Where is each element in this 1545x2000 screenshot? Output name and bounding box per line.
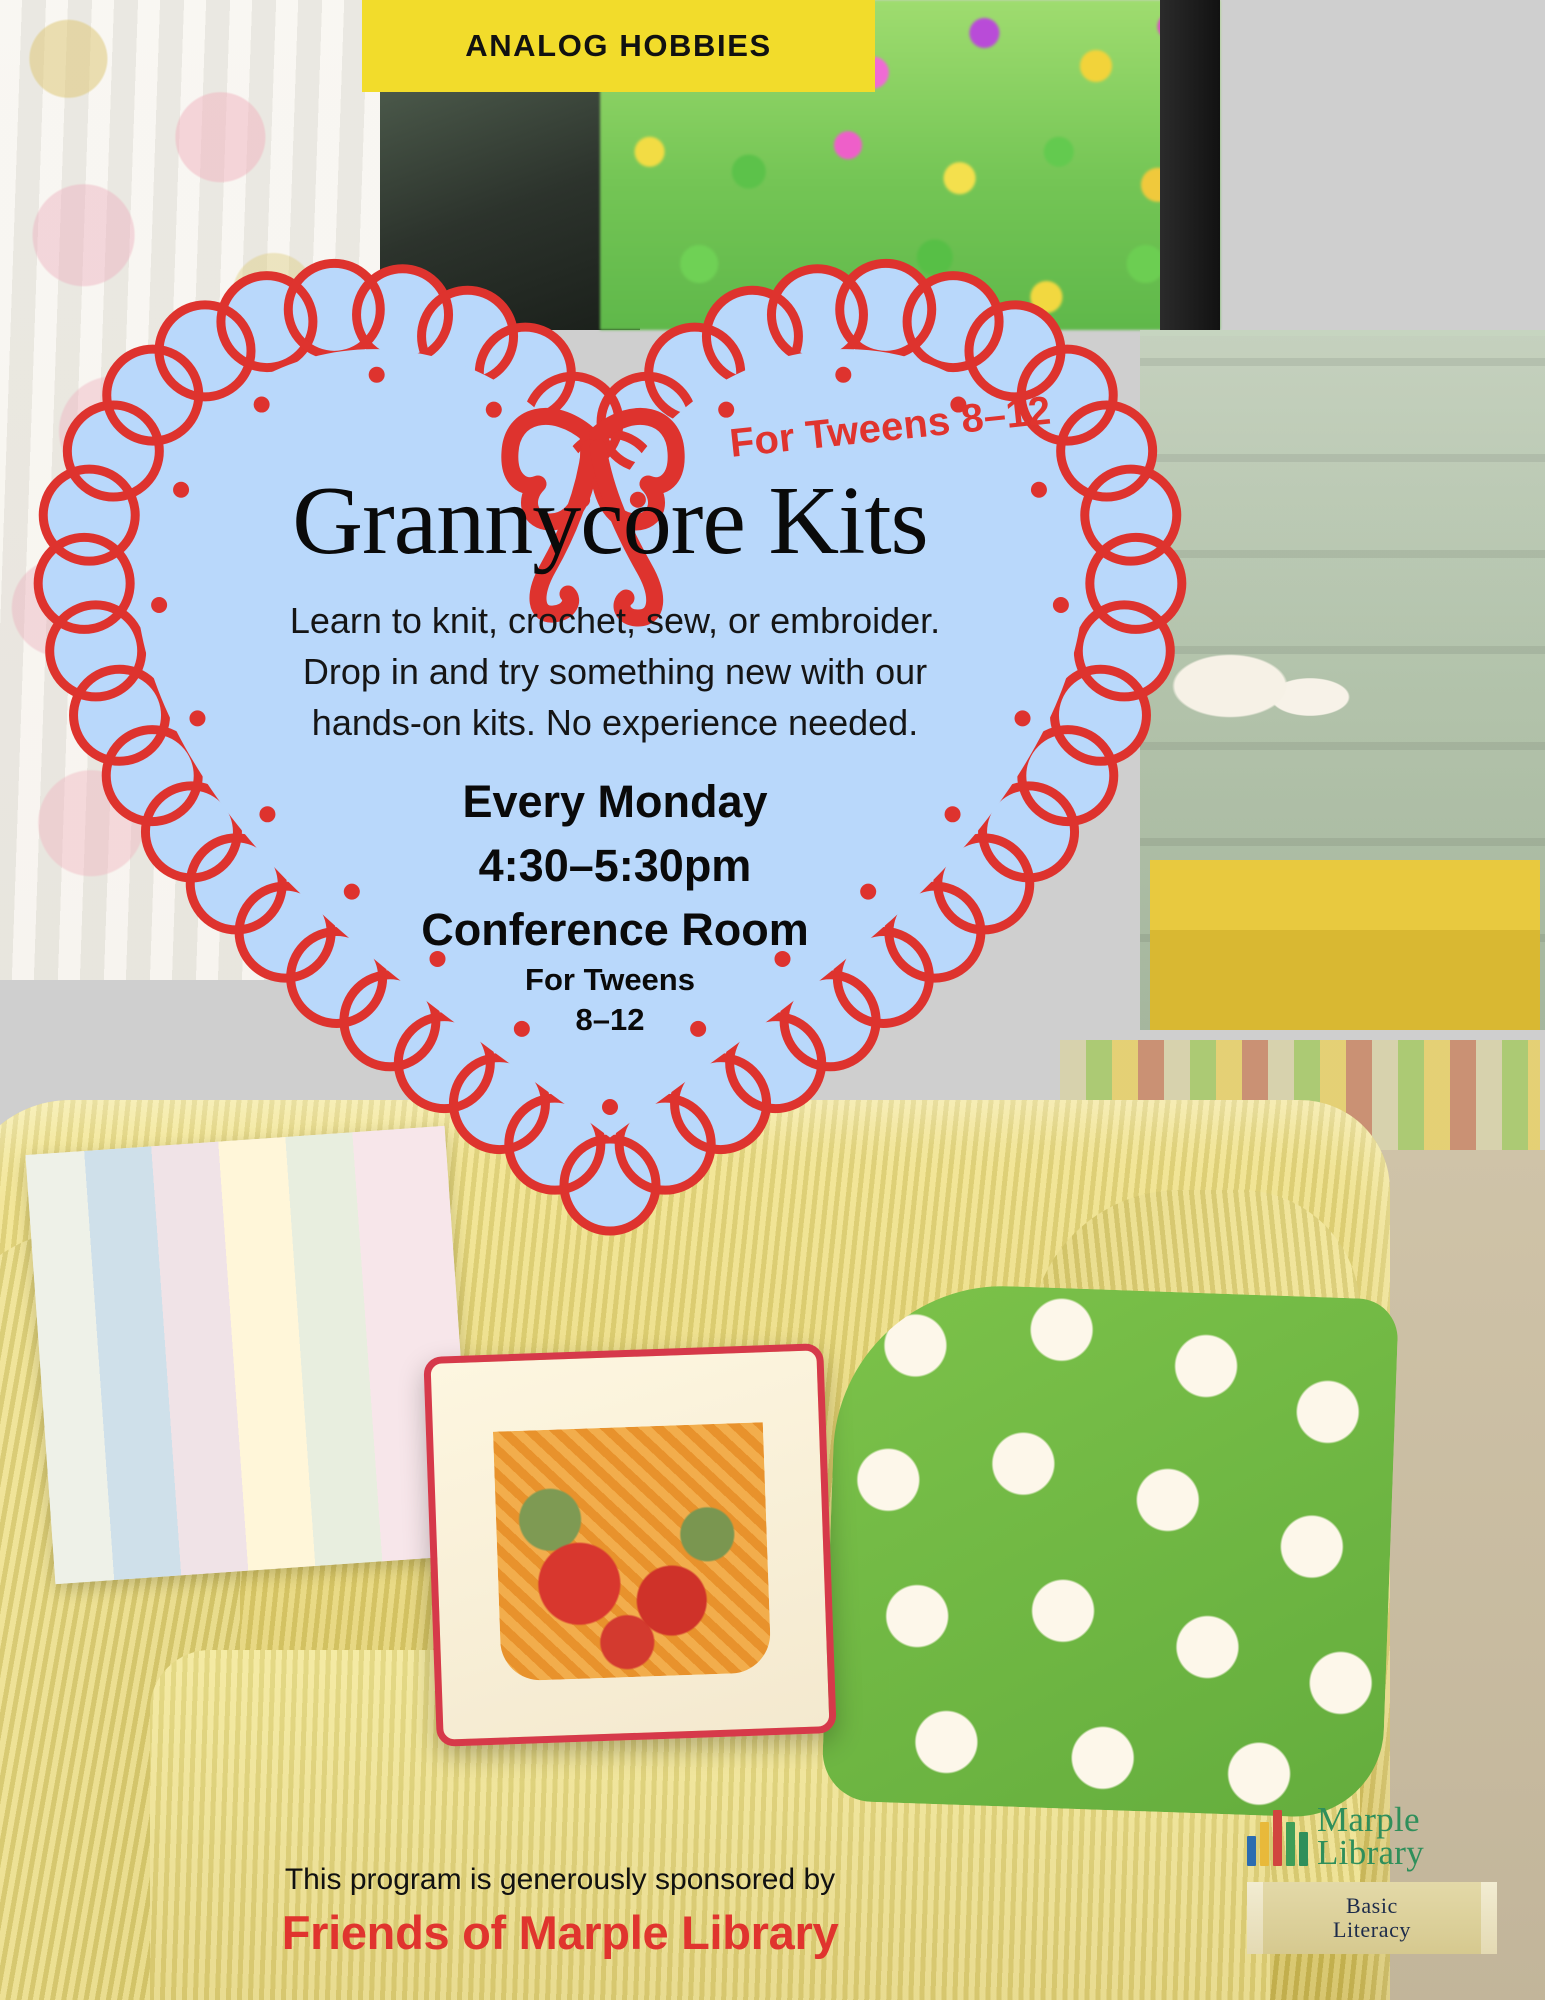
embroidered-cushion [423, 1343, 836, 1747]
logo-words: Marple Library [1317, 1804, 1424, 1870]
vintage-tins [1150, 860, 1540, 1030]
basic-literacy-badge: Basic Literacy [1247, 1882, 1497, 1954]
cushion-embroidery [493, 1422, 772, 1681]
logo-bar [1286, 1822, 1295, 1866]
logo-bar [1273, 1810, 1282, 1866]
ceramic-teapot [1150, 620, 1350, 730]
logo-bar [1247, 1836, 1256, 1866]
badge-line-2: Literacy [1333, 1918, 1411, 1941]
analog-hobbies-banner: ANALOG HOBBIES [362, 0, 875, 92]
daisy-crochet-blanket [821, 1280, 1399, 1819]
badge-line-1: Basic [1333, 1894, 1411, 1917]
badge-text: Basic Literacy [1333, 1894, 1411, 1941]
sponsor-intro: This program is generously sponsored by [120, 1863, 1000, 1897]
sponsor-block: This program is generously sponsored by … [120, 1863, 1000, 1960]
logo-bar [1260, 1822, 1269, 1866]
marple-library-logo: Marple Library Basic Literacy [1247, 1804, 1497, 1970]
logo-color-bars-icon [1247, 1808, 1308, 1866]
logo-name-line-2: Library [1317, 1837, 1424, 1870]
logo-name-line-1: Marple [1317, 1804, 1424, 1837]
logo-bar [1299, 1832, 1308, 1866]
poster: ANALOG HOBBIES For [0, 0, 1545, 2000]
logo-wordmark: Marple Library [1247, 1804, 1497, 1870]
sponsor-name: Friends of Marple Library [120, 1905, 1000, 1960]
banner-label: ANALOG HOBBIES [465, 28, 772, 64]
footer: This program is generously sponsored by … [0, 1788, 1545, 1978]
scalloped-heart-shape [40, 150, 1180, 1210]
